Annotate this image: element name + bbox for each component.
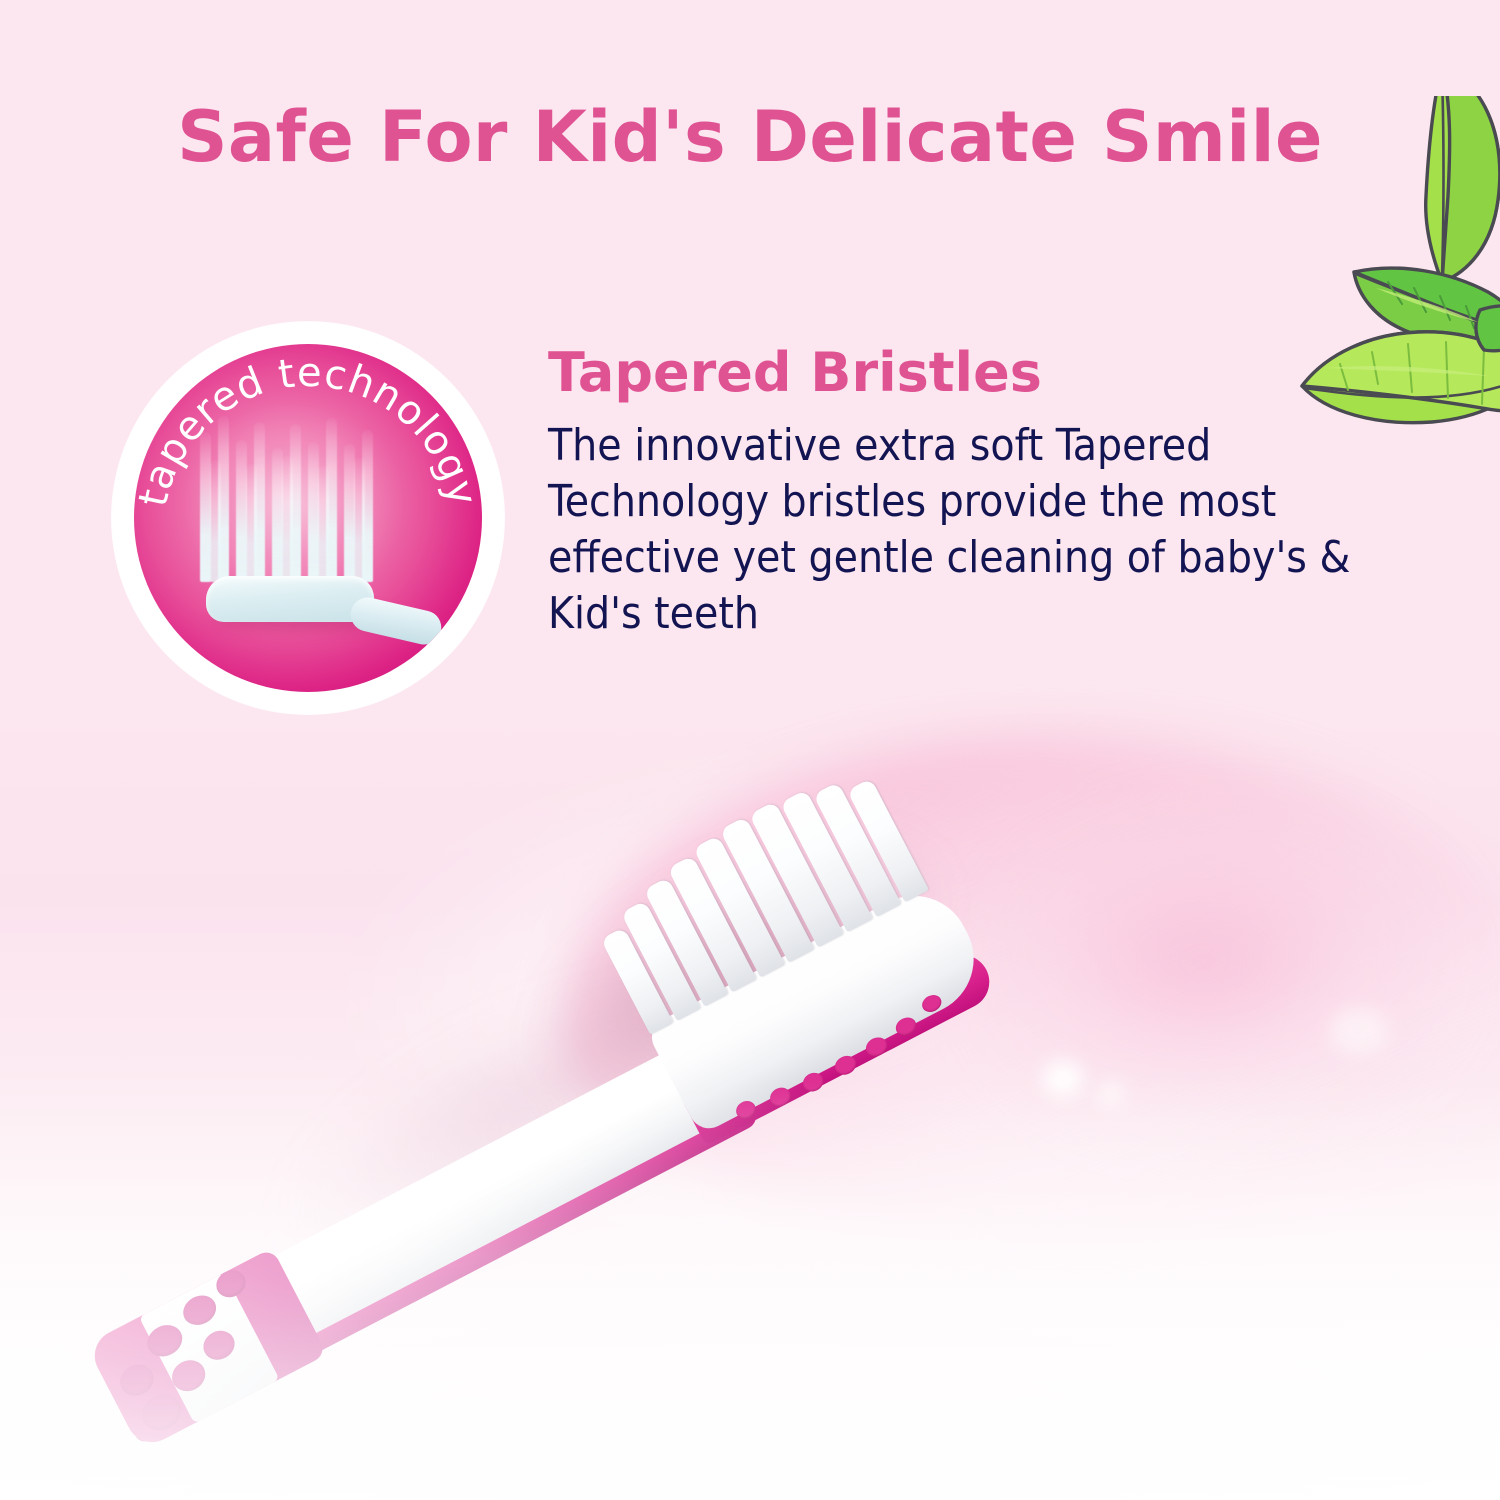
feature-title: Tapered Bristles: [548, 344, 1402, 402]
promo-banner: Safe For Kid's Delicate Smile: [0, 0, 1500, 1500]
badge-disc: tapered technology: [134, 344, 482, 692]
bokeh-highlight: [1330, 1008, 1388, 1054]
page-title: Safe For Kid's Delicate Smile: [0, 96, 1500, 178]
bottom-white-fade: [0, 1080, 1500, 1500]
tapered-technology-badge: tapered technology: [112, 322, 504, 714]
badge-arc-label: tapered technology: [134, 350, 482, 511]
badge-arc-text: tapered technology: [134, 344, 482, 692]
svg-text:tapered technology: tapered technology: [134, 350, 482, 511]
